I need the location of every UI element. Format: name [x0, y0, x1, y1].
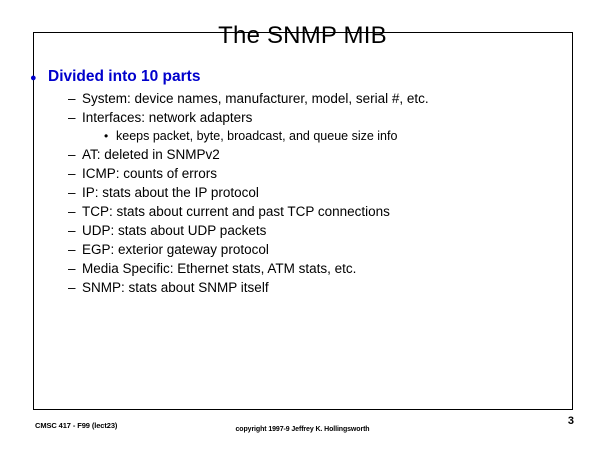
- bullet-dash-icon: –: [68, 186, 82, 200]
- bullet-text: ICMP: counts of errors: [82, 166, 593, 181]
- bullet-dash-icon: –: [68, 205, 82, 219]
- bullet-dash-icon: –: [68, 167, 82, 181]
- slide-title: The SNMP MIB: [0, 22, 605, 50]
- footer-copyright: copyright 1997-9 Jeffrey K. Hollingswort…: [0, 426, 605, 433]
- bullet-item: ● Divided into 10 parts: [30, 68, 593, 86]
- bullet-item: – ICMP: counts of errors: [30, 166, 593, 181]
- bullet-disc-icon: ●: [30, 73, 48, 84]
- bullet-item: – IP: stats about the IP protocol: [30, 185, 593, 200]
- bullet-text: IP: stats about the IP protocol: [82, 185, 593, 200]
- bullet-item: – Media Specific: Ethernet stats, ATM st…: [30, 261, 593, 276]
- bullet-dash-icon: –: [68, 224, 82, 238]
- bullet-dash-icon: –: [68, 111, 82, 125]
- bullet-text: SNMP: stats about SNMP itself: [82, 280, 593, 295]
- bullet-item: – EGP: exterior gateway protocol: [30, 242, 593, 257]
- bullet-item: – System: device names, manufacturer, mo…: [30, 91, 593, 106]
- bullet-dash-icon: –: [68, 243, 82, 257]
- bullet-item: • keeps packet, byte, broadcast, and que…: [30, 129, 593, 143]
- bullet-text: Media Specific: Ethernet stats, ATM stat…: [82, 261, 593, 276]
- bullet-text: System: device names, manufacturer, mode…: [82, 91, 593, 106]
- bullet-dash-icon: –: [68, 92, 82, 106]
- slide-canvas: The SNMP MIB ● Divided into 10 parts – S…: [0, 0, 605, 467]
- bullet-text: UDP: stats about UDP packets: [82, 223, 593, 238]
- bullet-text: TCP: stats about current and past TCP co…: [82, 204, 593, 219]
- footer-page-number: 3: [568, 415, 574, 427]
- bullet-item: – SNMP: stats about SNMP itself: [30, 280, 593, 295]
- bullet-item: – AT: deleted in SNMPv2: [30, 147, 593, 162]
- bullet-text: Interfaces: network adapters: [82, 110, 593, 125]
- bullet-dash-icon: –: [68, 148, 82, 162]
- bullet-text: Divided into 10 parts: [48, 68, 593, 86]
- bullet-item: – TCP: stats about current and past TCP …: [30, 204, 593, 219]
- bullet-dash-icon: –: [68, 262, 82, 276]
- bullet-text: keeps packet, byte, broadcast, and queue…: [116, 129, 593, 143]
- slide-body: ● Divided into 10 parts – System: device…: [30, 68, 593, 299]
- bullet-item: – UDP: stats about UDP packets: [30, 223, 593, 238]
- bullet-item: – Interfaces: network adapters: [30, 110, 593, 125]
- bullet-dash-icon: –: [68, 281, 82, 295]
- bullet-text: AT: deleted in SNMPv2: [82, 147, 593, 162]
- bullet-dot-icon: •: [104, 130, 116, 142]
- bullet-text: EGP: exterior gateway protocol: [82, 242, 593, 257]
